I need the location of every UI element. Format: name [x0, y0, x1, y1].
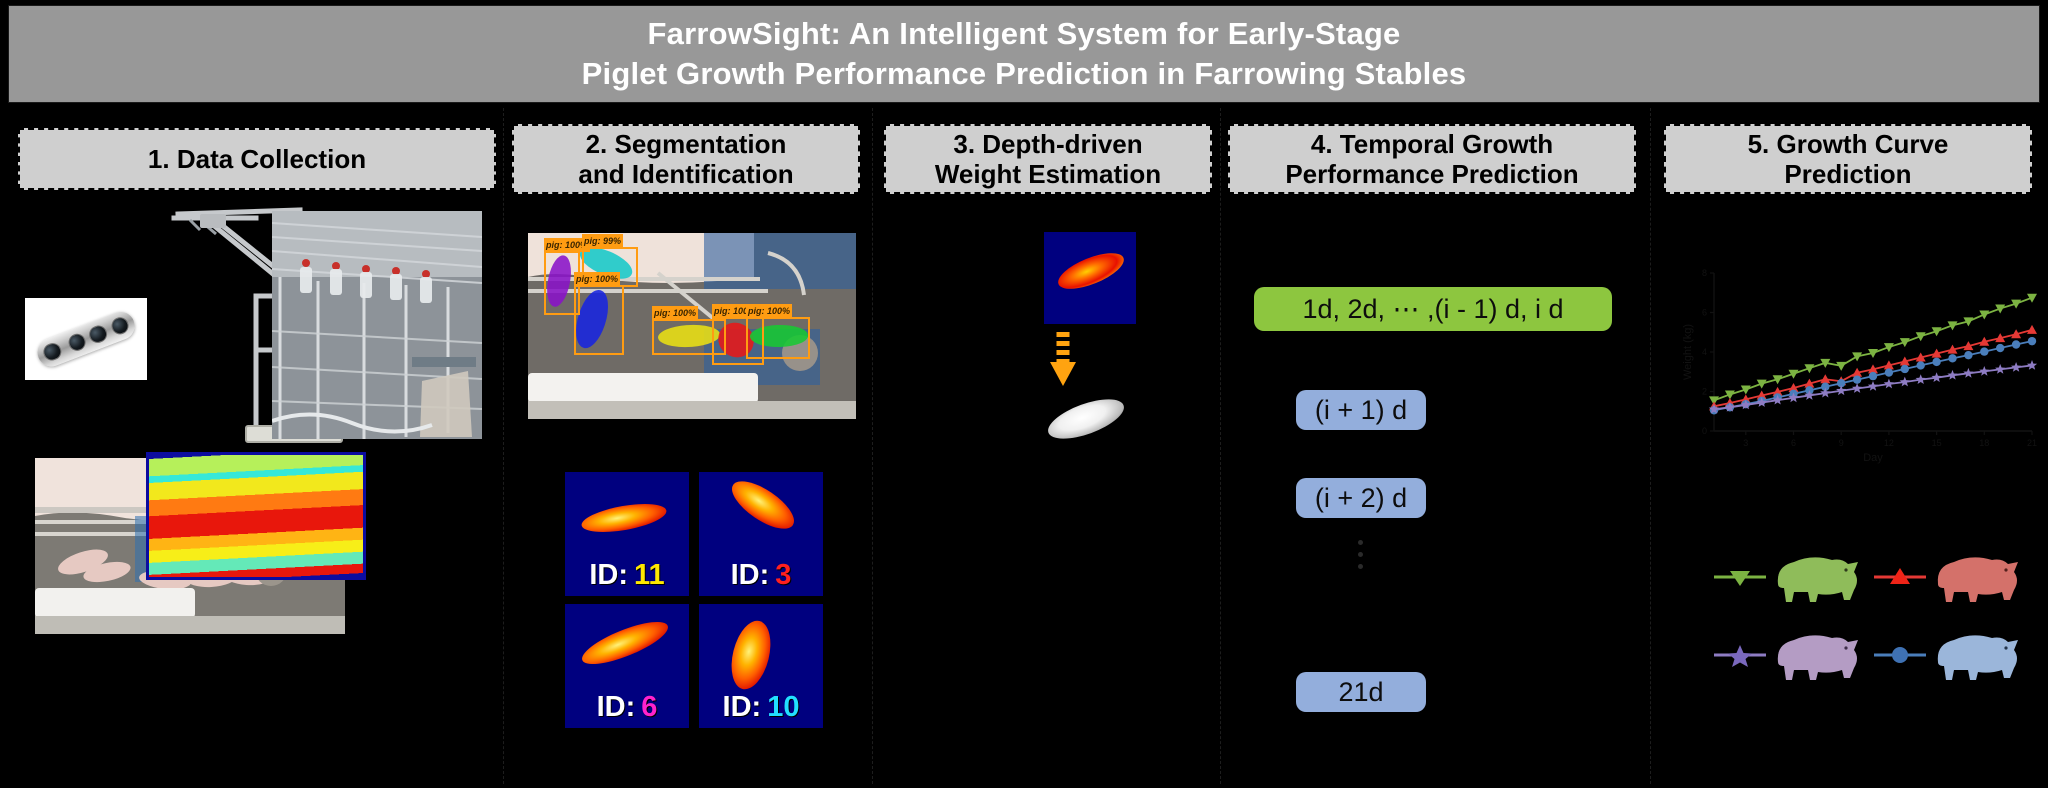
id-tile-10: ID:10	[699, 604, 823, 728]
down-arrow-icon	[1046, 330, 1080, 388]
svg-text:21: 21	[2027, 438, 2037, 448]
star-marker-icon	[1712, 642, 1768, 668]
svg-text:Weight (kg): Weight (kg)	[1682, 324, 1694, 380]
id-tile-11-heatmap	[580, 499, 669, 538]
stage-header-2: 2. Segmentation and Identification	[512, 124, 860, 194]
stage-header-2-line-1: 2. Segmentation	[586, 129, 787, 159]
figure-canvas: FarrowSight: An Intelligent System for E…	[0, 0, 2048, 788]
id-tile-10-label: ID:10	[723, 691, 800, 724]
id-tile-6-label: ID:6	[597, 691, 658, 724]
history-days-pill: 1d, 2d, ⋯ ,(i - 1) d, i d	[1254, 287, 1612, 331]
stage-header-5-line-2: Prediction	[1784, 159, 1911, 189]
panel-divider-4	[1650, 108, 1651, 784]
prediction-pill-21d: 21d	[1296, 672, 1426, 712]
depth-camera-photo	[25, 298, 147, 380]
id-value: 10	[767, 691, 799, 723]
id-tile-3: ID:3	[699, 472, 823, 596]
stage-header-5: 5. Growth Curve Prediction	[1664, 124, 2032, 194]
id-value: 3	[775, 559, 791, 591]
stage-header-4-line-2: Performance Prediction	[1285, 159, 1578, 189]
svg-text:2: 2	[1702, 387, 1707, 397]
stage-header-2-line-2: and Identification	[578, 159, 793, 189]
svg-text:9: 9	[1839, 438, 1844, 448]
svg-text:6: 6	[1791, 438, 1796, 448]
svg-text:6: 6	[1702, 308, 1707, 318]
barn-photo-content	[272, 211, 482, 439]
stage-header-1: 1. Data Collection	[18, 128, 496, 190]
id-tile-11-label: ID:11	[589, 559, 664, 592]
point-cloud-shape	[1043, 391, 1128, 447]
depth-patch-heatmap	[1054, 246, 1129, 296]
id-prefix: ID:	[589, 559, 628, 591]
title-line-1: FarrowSight: An Intelligent System for E…	[648, 14, 1401, 54]
point-cloud-image	[1030, 388, 1150, 450]
ellipsis-dot	[1358, 540, 1363, 545]
detection-box-6: pig: 100%	[746, 317, 810, 359]
svg-text:4: 4	[1702, 347, 1707, 357]
pig-silhouette-green	[1768, 548, 1864, 606]
depth-map-image	[146, 452, 366, 580]
title-line-2: Piglet Growth Performance Prediction in …	[582, 54, 1467, 94]
detection-label-4: pig: 100%	[652, 306, 698, 320]
growth-curve-chart: 3691215182102468DayWeight (kg)	[1680, 265, 2040, 465]
stage-header-1-line-1: 1. Data Collection	[148, 144, 366, 174]
stage-header-4-line-1: 4. Temporal Growth	[1311, 129, 1553, 159]
svg-text:8: 8	[1702, 268, 1707, 278]
legend-item-curve-2	[1872, 548, 2024, 606]
circle-marker-icon	[1872, 642, 1928, 668]
down-triangle-marker-icon	[1712, 564, 1768, 590]
stage-header-3: 3. Depth-driven Weight Estimation	[884, 124, 1212, 194]
id-tile-10-heatmap	[725, 617, 777, 694]
panel-divider-1	[503, 108, 504, 784]
camera-lens-mid	[66, 331, 88, 353]
id-value: 6	[641, 691, 657, 723]
id-prefix: ID:	[731, 559, 770, 591]
pig-silhouette-blue	[1928, 626, 2024, 684]
growth-curve-plot: 3691215182102468DayWeight (kg)	[1680, 265, 2040, 465]
pig-silhouette-purple	[1768, 626, 1864, 684]
legend-item-curve-1	[1712, 548, 1864, 606]
panel-divider-2	[872, 108, 873, 784]
detection-box-3: pig: 100%	[574, 285, 624, 355]
pig-silhouette-red	[1928, 548, 2024, 606]
camera-lens-right	[109, 315, 131, 337]
id-tile-6: ID:6	[565, 604, 689, 728]
prediction-pill-i-plus-2: (i + 2) d	[1296, 478, 1426, 518]
panel-divider-3	[1220, 108, 1221, 784]
stage-header-3-line-2: Weight Estimation	[935, 159, 1161, 189]
id-tile-3-label: ID:3	[731, 559, 792, 592]
id-tile-11: ID:11	[565, 472, 689, 596]
id-tile-3-heatmap	[725, 472, 801, 537]
svg-text:18: 18	[1979, 438, 1989, 448]
detection-label-2: pig: 99%	[582, 234, 623, 248]
svg-text:0: 0	[1702, 426, 1707, 436]
stage-header-3-line-1: 3. Depth-driven	[953, 129, 1142, 159]
segmentation-result-photo: pig: 100% pig: 99% pig: 100% pig: 100% p…	[528, 233, 856, 419]
legend-item-curve-4	[1872, 626, 2024, 684]
camera-lens-left	[41, 341, 63, 363]
depth-to-cloud-arrow	[1046, 330, 1080, 388]
camera-lens-ir	[87, 323, 109, 345]
svg-text:12: 12	[1884, 438, 1894, 448]
stage-header-4: 4. Temporal Growth Performance Predictio…	[1228, 124, 1636, 194]
depth-patch-image	[1044, 232, 1136, 324]
legend-item-curve-3	[1712, 626, 1864, 684]
prediction-ellipsis	[1358, 540, 1363, 569]
prediction-pill-i-plus-1: (i + 1) d	[1296, 390, 1426, 430]
svg-text:3: 3	[1743, 438, 1748, 448]
svg-text:15: 15	[1932, 438, 1942, 448]
figure-title: FarrowSight: An Intelligent System for E…	[8, 5, 2040, 103]
id-prefix: ID:	[723, 691, 762, 723]
id-tile-6-heatmap	[577, 614, 672, 673]
barn-interior-photo	[272, 211, 482, 439]
id-prefix: ID:	[597, 691, 636, 723]
ellipsis-dot	[1358, 552, 1363, 557]
svg-text:Day: Day	[1863, 452, 1883, 464]
camera-body	[33, 308, 139, 371]
detection-label-3: pig: 100%	[574, 272, 620, 286]
id-value: 11	[634, 559, 665, 591]
up-triangle-marker-icon	[1872, 564, 1928, 590]
stage-header-5-line-1: 5. Growth Curve	[1748, 129, 1949, 159]
detection-label-6: pig: 100%	[746, 304, 792, 318]
ellipsis-dot	[1358, 564, 1363, 569]
